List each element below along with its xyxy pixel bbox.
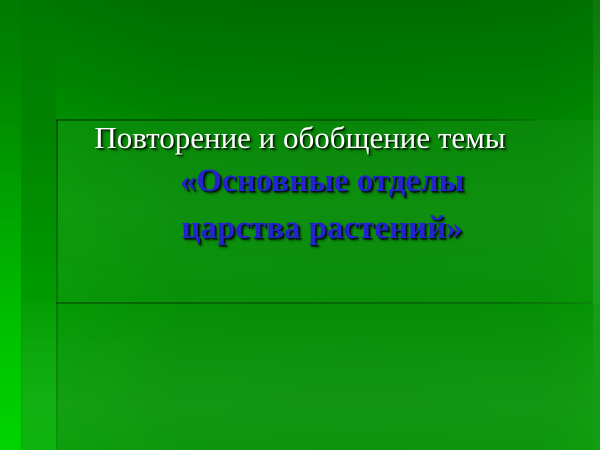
slide-title-line-1: Повторение и обобщение темы: [0, 122, 600, 153]
slide-title-line-3: царства растений»: [0, 212, 600, 245]
background-upper-panel: [56, 0, 600, 120]
presentation-slide: Повторение и обобщение темы «Основные от…: [0, 0, 600, 450]
divider-line-vertical-lower: [56, 304, 58, 450]
slide-title-block: Повторение и обобщение темы «Основные от…: [0, 122, 600, 245]
divider-line-bottom: [56, 302, 593, 304]
background-lower-panel: [22, 303, 593, 450]
slide-title-line-2: «Основные отделы: [0, 165, 600, 198]
